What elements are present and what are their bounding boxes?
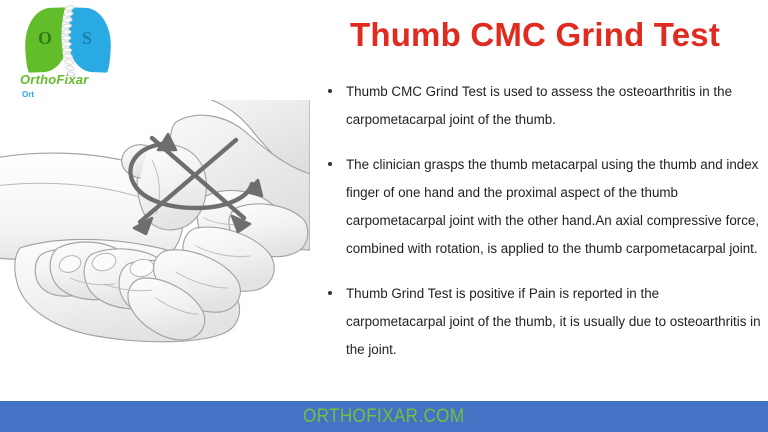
logo-wordmark: OrthoFixar [20, 72, 88, 87]
list-item-text: Thumb Grind Test is positive if Pain is … [346, 286, 761, 357]
list-item: Thumb Grind Test is positive if Pain is … [322, 280, 762, 364]
bullet-list: Thumb CMC Grind Test is used to assess t… [322, 78, 762, 364]
list-item-text: Thumb CMC Grind Test is used to assess t… [346, 84, 732, 127]
logo-letter-left: O [38, 28, 52, 49]
logo-letter-right: S [82, 28, 92, 49]
thumb-cmc-grind-test-illustration [0, 100, 310, 390]
orthofixar-logo: O S OrthoFix [8, 2, 128, 106]
list-item: Thumb CMC Grind Test is used to assess t… [322, 78, 762, 134]
page-title: Thumb CMC Grind Test [310, 16, 760, 54]
footer-website-label: ORTHOFIXAR.COM [303, 406, 464, 428]
bullet-dot-icon [328, 162, 332, 166]
list-item-text: The clinician grasps the thumb metacarpa… [346, 157, 759, 256]
bullet-dot-icon [328, 89, 332, 93]
footer-bar: ORTHOFIXAR.COM [0, 401, 768, 432]
spine-icon [58, 4, 80, 78]
logo-subtext: Ort [22, 90, 34, 99]
bullet-dot-icon [328, 291, 332, 295]
slide-root: O S OrthoFix [0, 0, 768, 432]
logo-mark-icon: O S [22, 6, 114, 74]
list-item: The clinician grasps the thumb metacarpa… [322, 151, 762, 263]
